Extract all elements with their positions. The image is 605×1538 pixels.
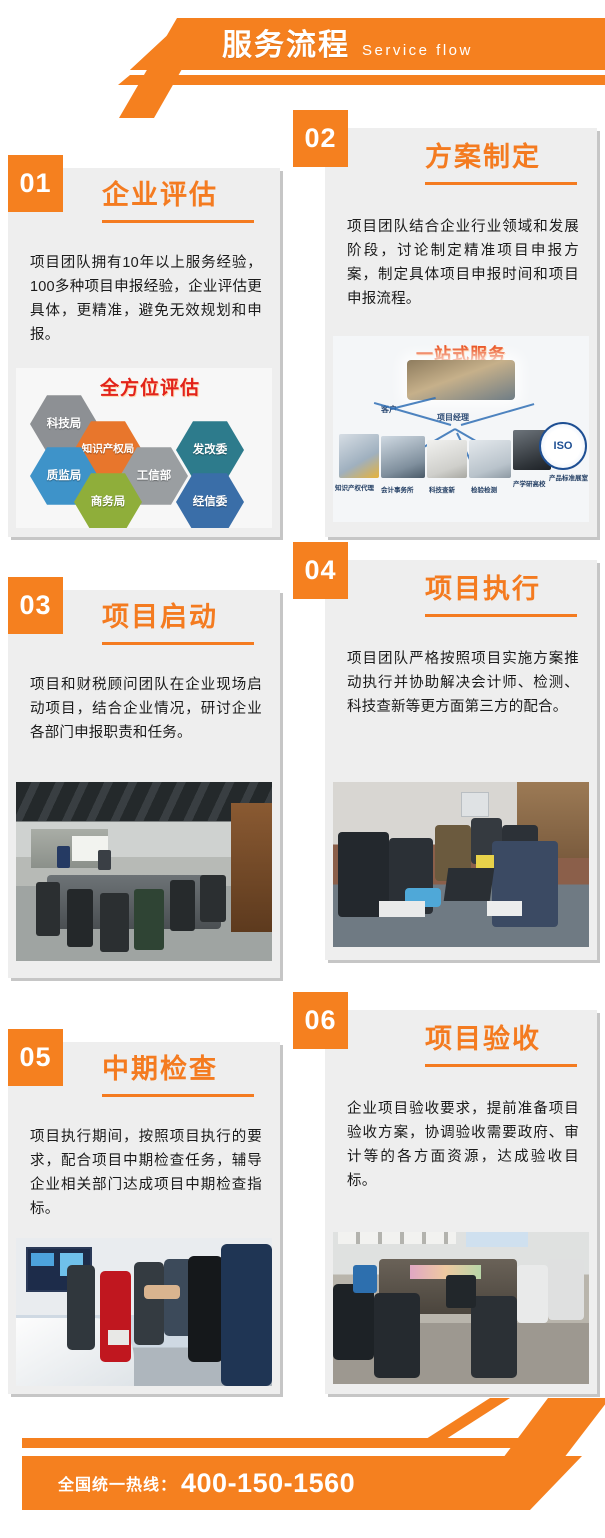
step-badge-05: 05 <box>8 1029 63 1086</box>
step-title-rule-03 <box>102 642 254 645</box>
step-body-03: 项目和财税顾问团队在企业现场启动项目，结合企业情况，研讨企业各部门申报职责和任务… <box>30 674 262 746</box>
step-body-02: 项目团队结合企业行业领域和发展阶段，讨论制定精准项目申报方案，制定具体项目申报时… <box>347 216 579 312</box>
hex-diagram: 全方位评估 科技局 知识产权局 质监局 工信部 商务局 发改委 经信委 <box>16 368 272 528</box>
step-badge-04: 04 <box>293 542 348 599</box>
onestop-thumb-4 <box>469 440 511 478</box>
hex-diagram-title: 全方位评估 <box>100 373 200 400</box>
header-banner: 服务流程 Service flow <box>0 0 605 118</box>
onestop-diagram: 一站式服务 客户 项目经理 ISO 知识产权代理 会计事务所 科技查新 <box>333 336 589 522</box>
step-body-05: 项目执行期间，按照项目执行的要求，配合项目中期检查任务，辅导企业相关部门达成项目… <box>30 1126 262 1222</box>
onestop-caption-2: 会计事务所 <box>381 484 414 494</box>
step-title-03: 项目启动 <box>102 604 218 631</box>
step-photo-05 <box>16 1238 272 1386</box>
hex-node-fagai: 发改委 <box>176 420 244 480</box>
step-title-06: 项目验收 <box>425 1026 541 1053</box>
onestop-caption-1: 知识产权代理 <box>335 482 374 492</box>
step-badge-02: 02 <box>293 110 348 167</box>
step-title-rule-05 <box>102 1094 254 1097</box>
step-title-rule-02 <box>425 182 577 185</box>
onestop-thumb-1 <box>339 434 379 478</box>
onestop-caption-6: 产品标准展室 <box>549 472 588 482</box>
onestop-caption-3: 科技查新 <box>429 484 455 494</box>
step-badge-03: 03 <box>8 577 63 634</box>
page-title-cn: 服务流程 <box>222 26 350 66</box>
onestop-caption-4: 检验检测 <box>471 484 497 494</box>
step-body-06: 企业项目验收要求，提前准备项目验收方案，协调验收需要政府、审计等的各方面资源，达… <box>347 1098 579 1194</box>
step-card-05[interactable]: 05 中期检查 项目执行期间，按照项目执行的要求，配合项目中期检查任务，辅导企业… <box>8 1042 280 1394</box>
step-card-02[interactable]: 02 方案制定 项目团队结合企业行业领域和发展阶段，讨论制定精准项目申报方案，制… <box>325 128 597 537</box>
step-card-01[interactable]: 01 企业评估 项目团队拥有10年以上服务经验，100多种项目申报经验，企业评估… <box>8 168 280 537</box>
header-bar-secondary <box>118 75 605 85</box>
step-card-04[interactable]: 04 项目执行 项目团队严格按照项目实施方案推动执行并协助解决会计师、检测、科技… <box>325 560 597 960</box>
onestop-thumb-2 <box>381 436 425 478</box>
page-title: 服务流程 Service flow <box>222 26 473 66</box>
step-photo-06 <box>333 1232 589 1384</box>
step-body-01: 项目团队拥有10年以上服务经验，100多种项目申报经验，企业评估更具体，更精准，… <box>30 252 262 348</box>
step-photo-03 <box>16 782 272 961</box>
step-title-01: 企业评估 <box>102 182 218 209</box>
hotline-number: 400-150-1560 <box>181 1468 355 1499</box>
step-title-02: 方案制定 <box>425 144 541 171</box>
footer-bar-secondary <box>22 1438 572 1448</box>
hotline[interactable]: 全国统一热线： 400-150-1560 <box>58 1456 355 1510</box>
step-badge-06: 06 <box>293 992 348 1049</box>
onestop-caption-5: 产学研高校 <box>513 478 546 488</box>
onestop-hub-photo <box>407 360 515 400</box>
step-card-06[interactable]: 06 项目验收 企业项目验收要求，提前准备项目验收方案，协调验收需要政府、审计等… <box>325 1010 597 1394</box>
step-title-05: 中期检查 <box>102 1056 218 1083</box>
hotline-label: 全国统一热线： <box>58 1471 177 1495</box>
step-body-04: 项目团队严格按照项目实施方案推动执行并协助解决会计师、检测、科技查新等更方面第三… <box>347 648 579 720</box>
page-title-en: Service flow <box>362 42 473 59</box>
step-title-04: 项目执行 <box>425 576 541 603</box>
footer-banner: 全国统一热线： 400-150-1560 <box>0 1398 605 1538</box>
step-card-03[interactable]: 03 项目启动 项目和财税顾问团队在企业现场启动项目，结合企业情况，研讨企业各部… <box>8 590 280 978</box>
step-badge-01: 01 <box>8 155 63 212</box>
step-title-rule-04 <box>425 614 577 617</box>
hex-node-jingxin: 经信委 <box>176 472 244 528</box>
service-flow-infographic: 服务流程 Service flow 01 企业评估 项目团队拥有10年以上服务经… <box>0 0 605 1538</box>
onestop-thumb-3 <box>427 440 467 478</box>
step-photo-04 <box>333 782 589 947</box>
step-title-rule-06 <box>425 1064 577 1067</box>
onestop-arrow-5 <box>461 403 535 426</box>
step-title-rule-01 <box>102 220 254 223</box>
onestop-seal-icon: ISO <box>539 422 587 470</box>
